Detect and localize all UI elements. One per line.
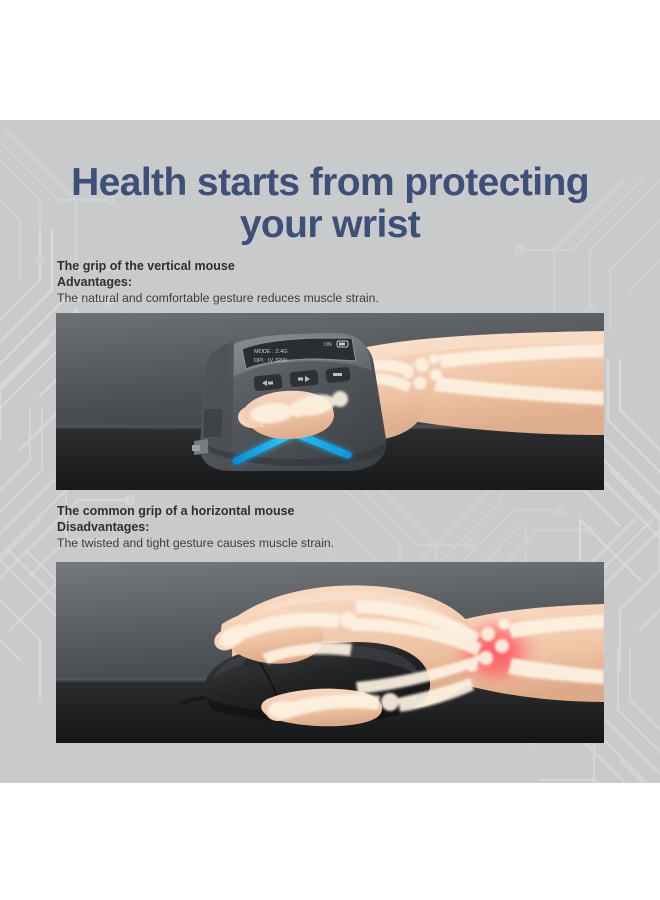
horizontal-mouse-xray-photo xyxy=(56,562,604,743)
caption-disadvantages-subheading: Disadvantages: xyxy=(57,520,577,536)
caption-disadvantages-body: The twisted and tight gesture causes mus… xyxy=(57,535,577,551)
svg-text:MODE : 2.4G: MODE : 2.4G xyxy=(254,349,288,355)
svg-text:DPI : IV 3200: DPI : IV 3200 xyxy=(254,358,287,364)
svg-text:ON: ON xyxy=(324,342,332,348)
vertical-mouse-xray-photo: MODE : 2.4G DPI : IV 3200 ON xyxy=(56,313,604,490)
caption-disadvantages: The common grip of a horizontal mouse Di… xyxy=(57,504,577,551)
caption-advantages-body: The natural and comfortable gesture redu… xyxy=(57,290,577,306)
caption-advantages-subheading: Advantages: xyxy=(57,275,577,291)
caption-advantages: The grip of the vertical mouse Advantage… xyxy=(57,259,577,306)
page-title: Health starts from protecting your wrist xyxy=(0,162,660,246)
caption-disadvantages-heading: The common grip of a horizontal mouse xyxy=(57,504,577,520)
product-infographic-page: Health starts from protecting your wrist… xyxy=(0,0,660,900)
caption-advantages-heading: The grip of the vertical mouse xyxy=(57,259,577,275)
page-title-line-1: Health starts from protecting xyxy=(0,162,660,204)
page-title-line-2: your wrist xyxy=(0,204,660,246)
